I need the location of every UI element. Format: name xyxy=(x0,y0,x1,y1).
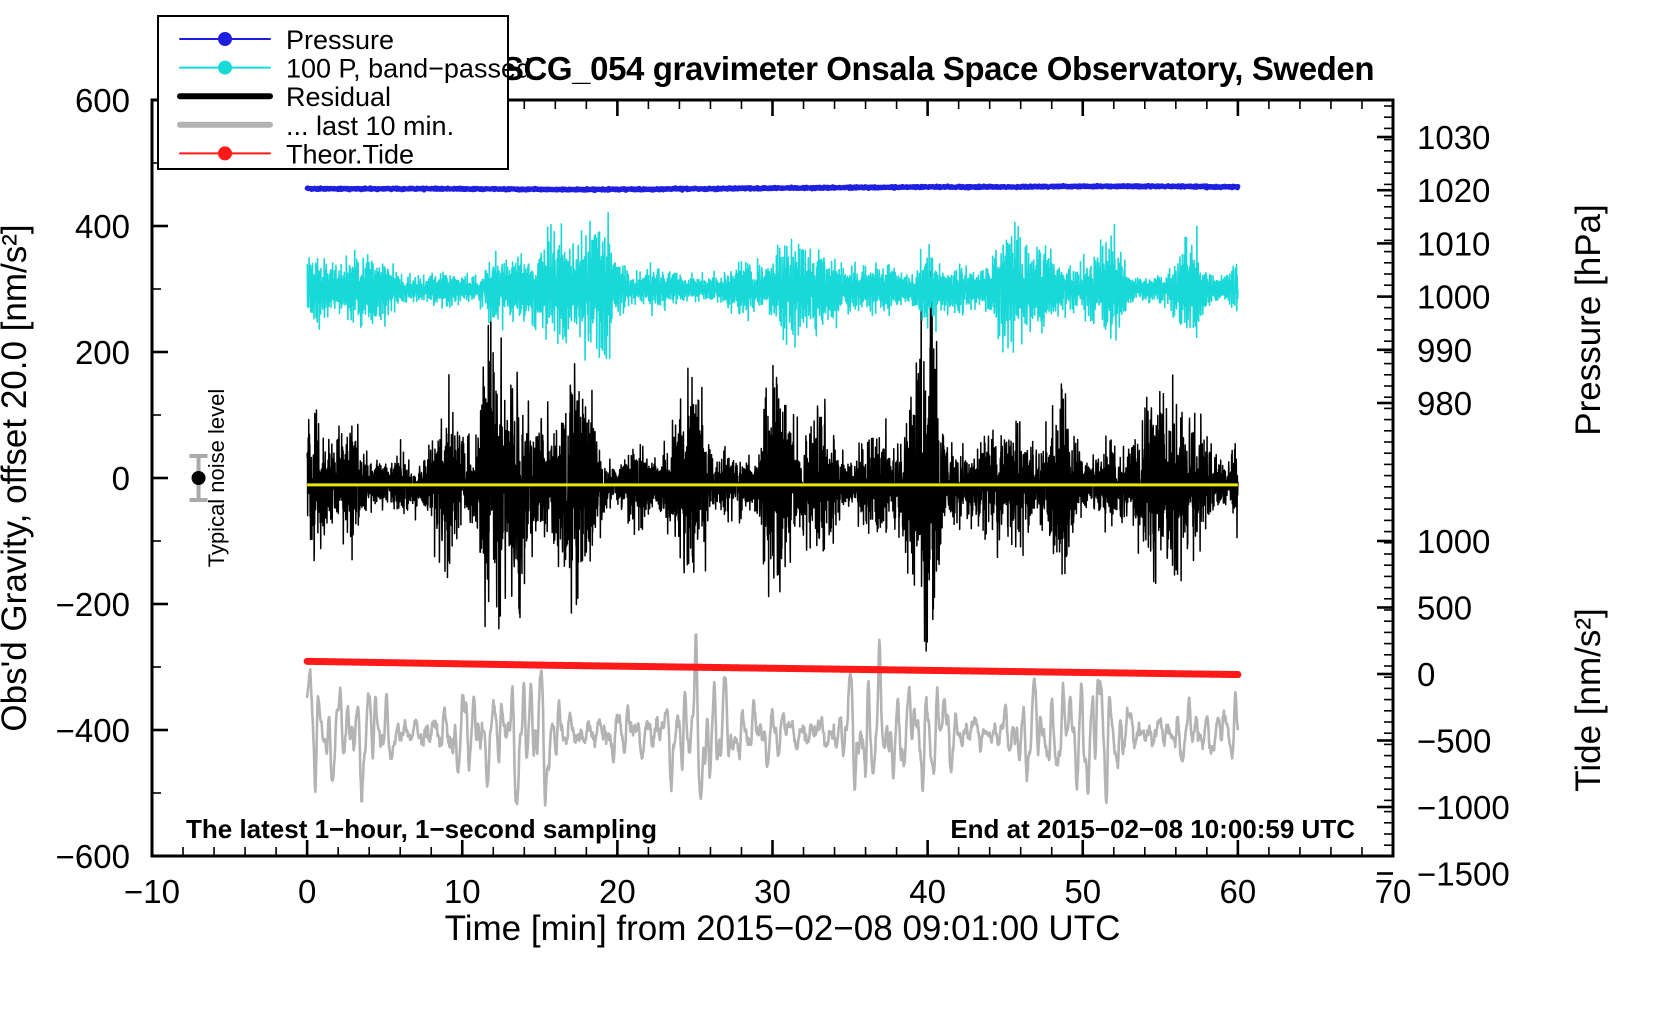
legend-swatch-dot xyxy=(218,32,232,46)
pressure-tick-label: 1020 xyxy=(1417,172,1490,209)
x-tick-label: 20 xyxy=(599,873,636,910)
tide-tick-label: 0 xyxy=(1417,656,1435,693)
pressure-tick-label: 1030 xyxy=(1417,119,1490,156)
legend-label: Theor.Tide xyxy=(286,139,414,169)
y-tick-label: −200 xyxy=(56,586,130,623)
noise-level-label: Typical noise level xyxy=(204,389,229,568)
annotation-bottom-right: End at 2015−02−08 10:00:59 UTC xyxy=(950,814,1355,844)
tide-tick-label: −1500 xyxy=(1417,856,1510,893)
x-tick-label: 70 xyxy=(1375,873,1412,910)
y-tick-label: 200 xyxy=(75,334,130,371)
x-tick-label: 30 xyxy=(754,873,791,910)
legend-label: Residual xyxy=(286,82,391,112)
y-tick-label: 0 xyxy=(112,460,130,497)
pressure-axis-title: Pressure [hPa] xyxy=(1569,204,1608,436)
tide-tick-label: 500 xyxy=(1417,590,1472,627)
y-tick-label: 400 xyxy=(75,208,130,245)
pressure-tick-label: 1000 xyxy=(1417,279,1490,316)
tide-tick-label: −500 xyxy=(1417,723,1491,760)
x-axis-title: Time [min] from 2015−02−08 09:01:00 UTC xyxy=(445,909,1121,948)
legend-swatch-dot xyxy=(218,61,232,75)
plot-title: SCG_054 gravimeter Onsala Space Observat… xyxy=(502,50,1374,87)
x-tick-label: 0 xyxy=(298,873,316,910)
legend-layer[interactable]: Pressure100 P, band−passedResidual... la… xyxy=(158,16,531,169)
legend-label: ... last 10 min. xyxy=(286,111,454,141)
x-tick-label: 40 xyxy=(909,873,946,910)
gravimeter-timeseries-plot: 6004002000−200−400−600−10010203040506070… xyxy=(0,0,1660,1020)
x-tick-label: −10 xyxy=(124,873,180,910)
tide-tick-label: −1000 xyxy=(1417,789,1510,826)
tide-axis-title: Tide [nm/s²] xyxy=(1569,608,1608,791)
annotation-bottom-left: The latest 1−hour, 1−second sampling xyxy=(186,814,657,844)
x-tick-label: 60 xyxy=(1220,873,1257,910)
tide-tick-label: 1000 xyxy=(1417,523,1490,560)
pressure-tick-label: 990 xyxy=(1417,332,1472,369)
y-tick-label: −400 xyxy=(56,712,130,749)
legend-swatch-dot xyxy=(218,146,232,160)
legend-label: Pressure xyxy=(286,25,394,55)
pressure-tick-label: 1010 xyxy=(1417,225,1490,262)
x-tick-label: 10 xyxy=(444,873,481,910)
chart-root: 6004002000−200−400−600−10010203040506070… xyxy=(0,0,1660,1020)
pressure-tick-label: 980 xyxy=(1417,385,1472,422)
y-tick-label: 600 xyxy=(75,82,130,119)
y-axis-title: Obs'd Gravity, offset 20.0 [nm/s²] xyxy=(0,224,34,731)
y-tick-label: −600 xyxy=(56,838,130,875)
x-tick-label: 50 xyxy=(1064,873,1101,910)
legend-label: 100 P, band−passed xyxy=(286,54,531,84)
